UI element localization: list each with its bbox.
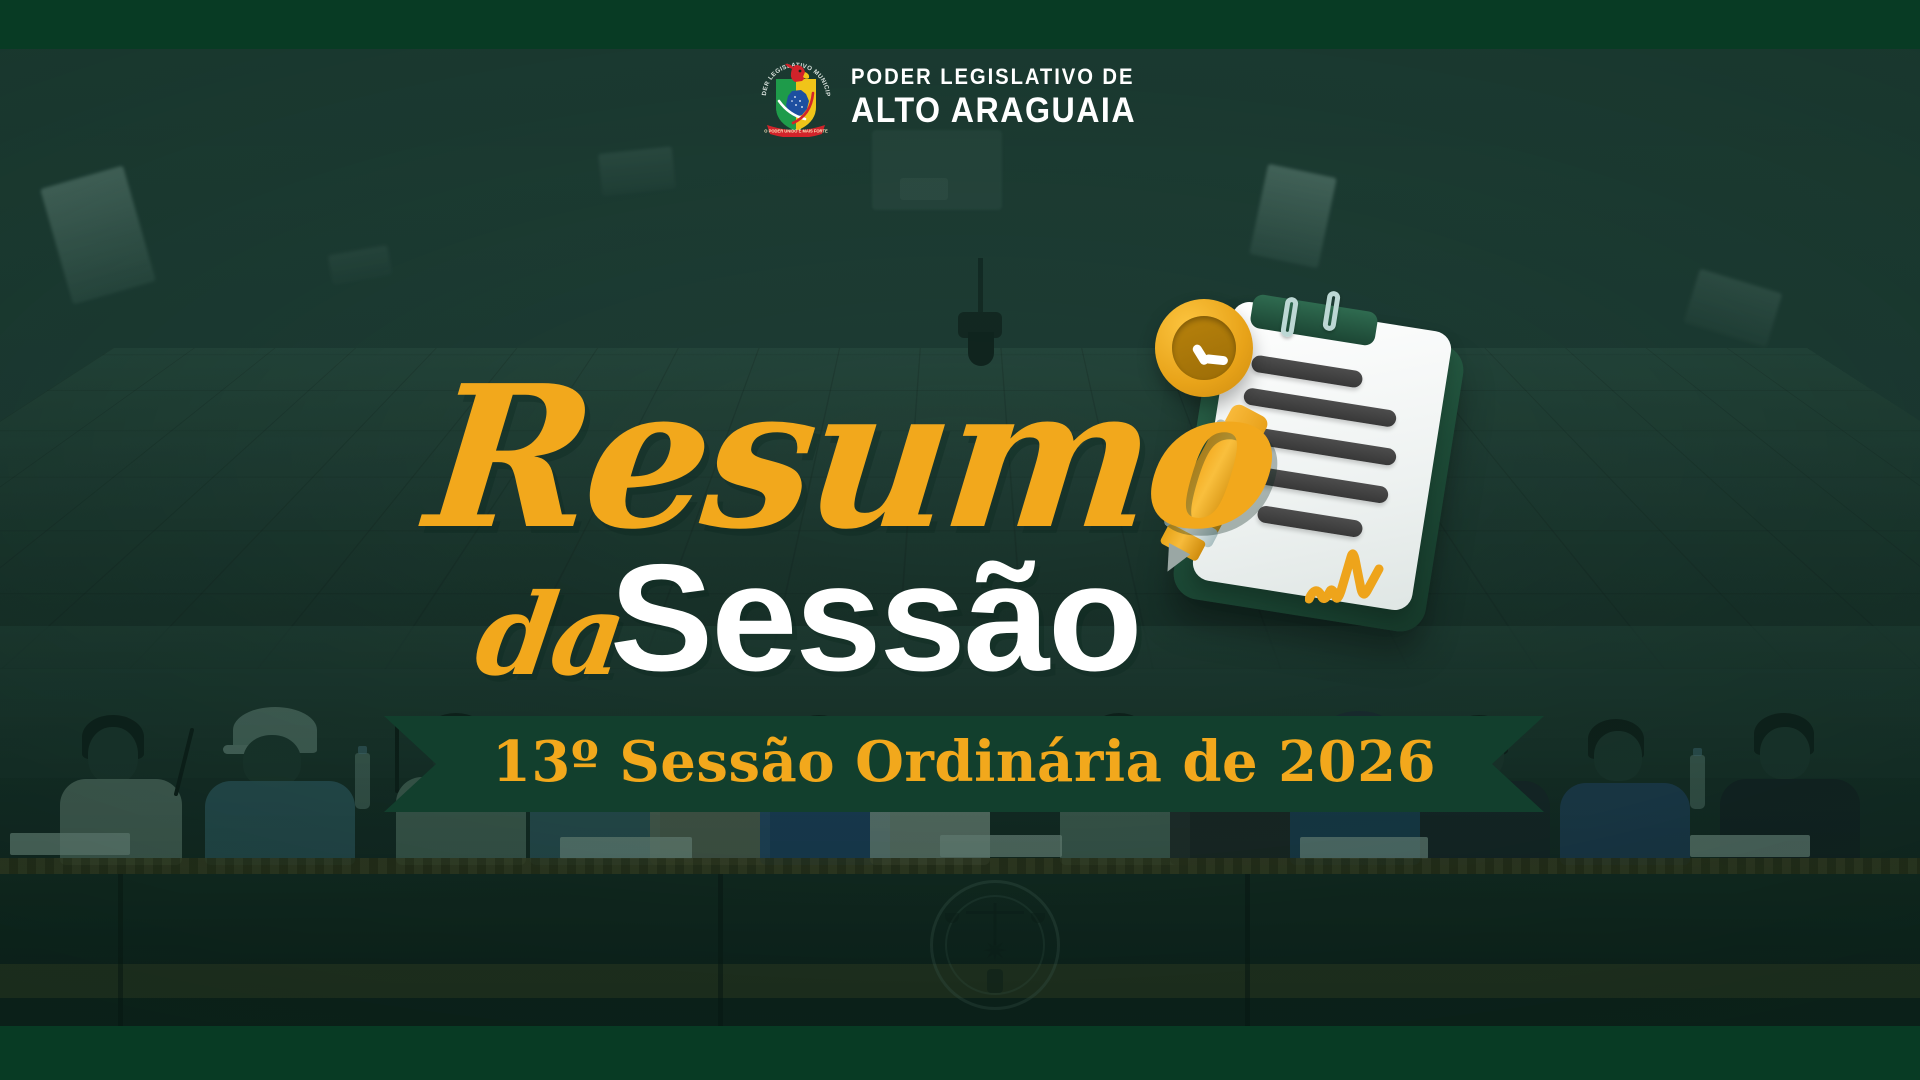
brand-line-1: PODER LEGISLATIVO DE — [851, 66, 1136, 88]
brasao-icon: PODER LEGISLATIVO MUNICIPAL — [759, 57, 833, 137]
hero-second-line: da Sessão — [478, 542, 1135, 694]
site-header: PODER LEGISLATIVO MUNICIPAL — [0, 49, 1920, 145]
brand-line-2: ALTO ARAGUAIA — [851, 93, 1136, 128]
hero-bold-word: Sessão — [610, 542, 1141, 694]
poster-canvas: ✷ PODER LEGISLATIVO MUNICIPAL — [0, 0, 1920, 1080]
signature-squiggle-icon — [1305, 537, 1415, 615]
brand-wordmark: PODER LEGISLATIVO DE ALTO ARAGUAIA — [851, 66, 1161, 128]
top-green-bar — [0, 0, 1920, 49]
hero-connector-word: da — [470, 580, 629, 692]
ribbon-label: 13º Sessão Ordinária de 2026 — [384, 716, 1544, 812]
hero-script-word: Resumo — [421, 370, 1282, 546]
bottom-green-bar — [0, 1026, 1920, 1080]
session-ribbon: 13º Sessão Ordinária de 2026 — [384, 716, 1544, 812]
svg-text:O PODER UNIDO É MAIS FORTE: O PODER UNIDO É MAIS FORTE — [764, 128, 828, 133]
